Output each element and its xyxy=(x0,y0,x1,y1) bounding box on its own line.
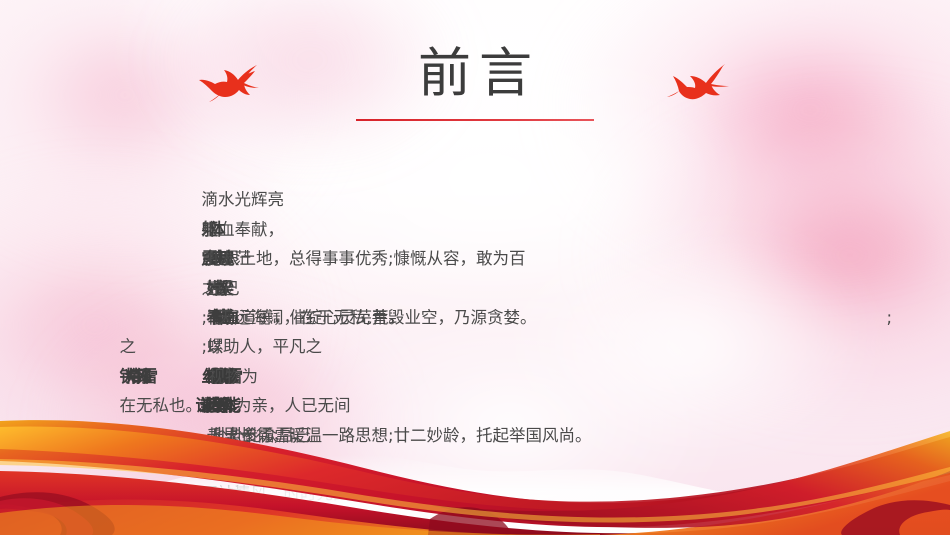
text-line: 之 铁精钢锋雷 在无私也。视人为亲，人已无间 ; xyxy=(0,303,950,332)
footer-ribbon-decoration xyxy=(0,413,950,535)
page-title-wrap: 前言 xyxy=(0,46,950,102)
text-line: 滴水光辉亮 躯体 会迷茫 ;青春道德，催绽心灵芜荒。 xyxy=(0,156,950,185)
text-line: 视物为 我躬亲体能 地忐参霜雪， 别傲娇 ，忖 履度 他 xyxy=(0,332,950,361)
text-line: 谦让礼卑 ，处处礼众后己 ;两袖清风，时时先国后家。 xyxy=(0,362,950,391)
slide-preface: 前言 滴水光辉亮 躯体 会迷茫 ;青春道德，催绽心灵芜荒。 热血奉献， 震撼鬼魂… xyxy=(0,0,950,535)
title-underline xyxy=(356,119,594,121)
body-text: 滴水光辉亮 躯体 会迷茫 ;青春道德，催绽心灵芜荒。 热血奉献， 震撼鬼魂 之炭… xyxy=(0,156,950,421)
text-run: ; xyxy=(886,303,892,332)
text-line: 热血奉献， 震撼鬼魂 之炭 ;螺 丝精神震撼 。 xyxy=(0,185,950,214)
text-line: 扎根土地，总得事事优秀;慷慨从容，敢为百 姓脊梁 脊 xyxy=(0,215,950,244)
page-title: 前言 xyxy=(0,46,950,102)
text-line: 克己 奉献藏血 以助人，平凡之 志却铸精锋雷 xyxy=(0,244,950,273)
text-line: 天远海阔，在于无私;善毁业空，乃源贪婪。 xyxy=(0,274,950,303)
